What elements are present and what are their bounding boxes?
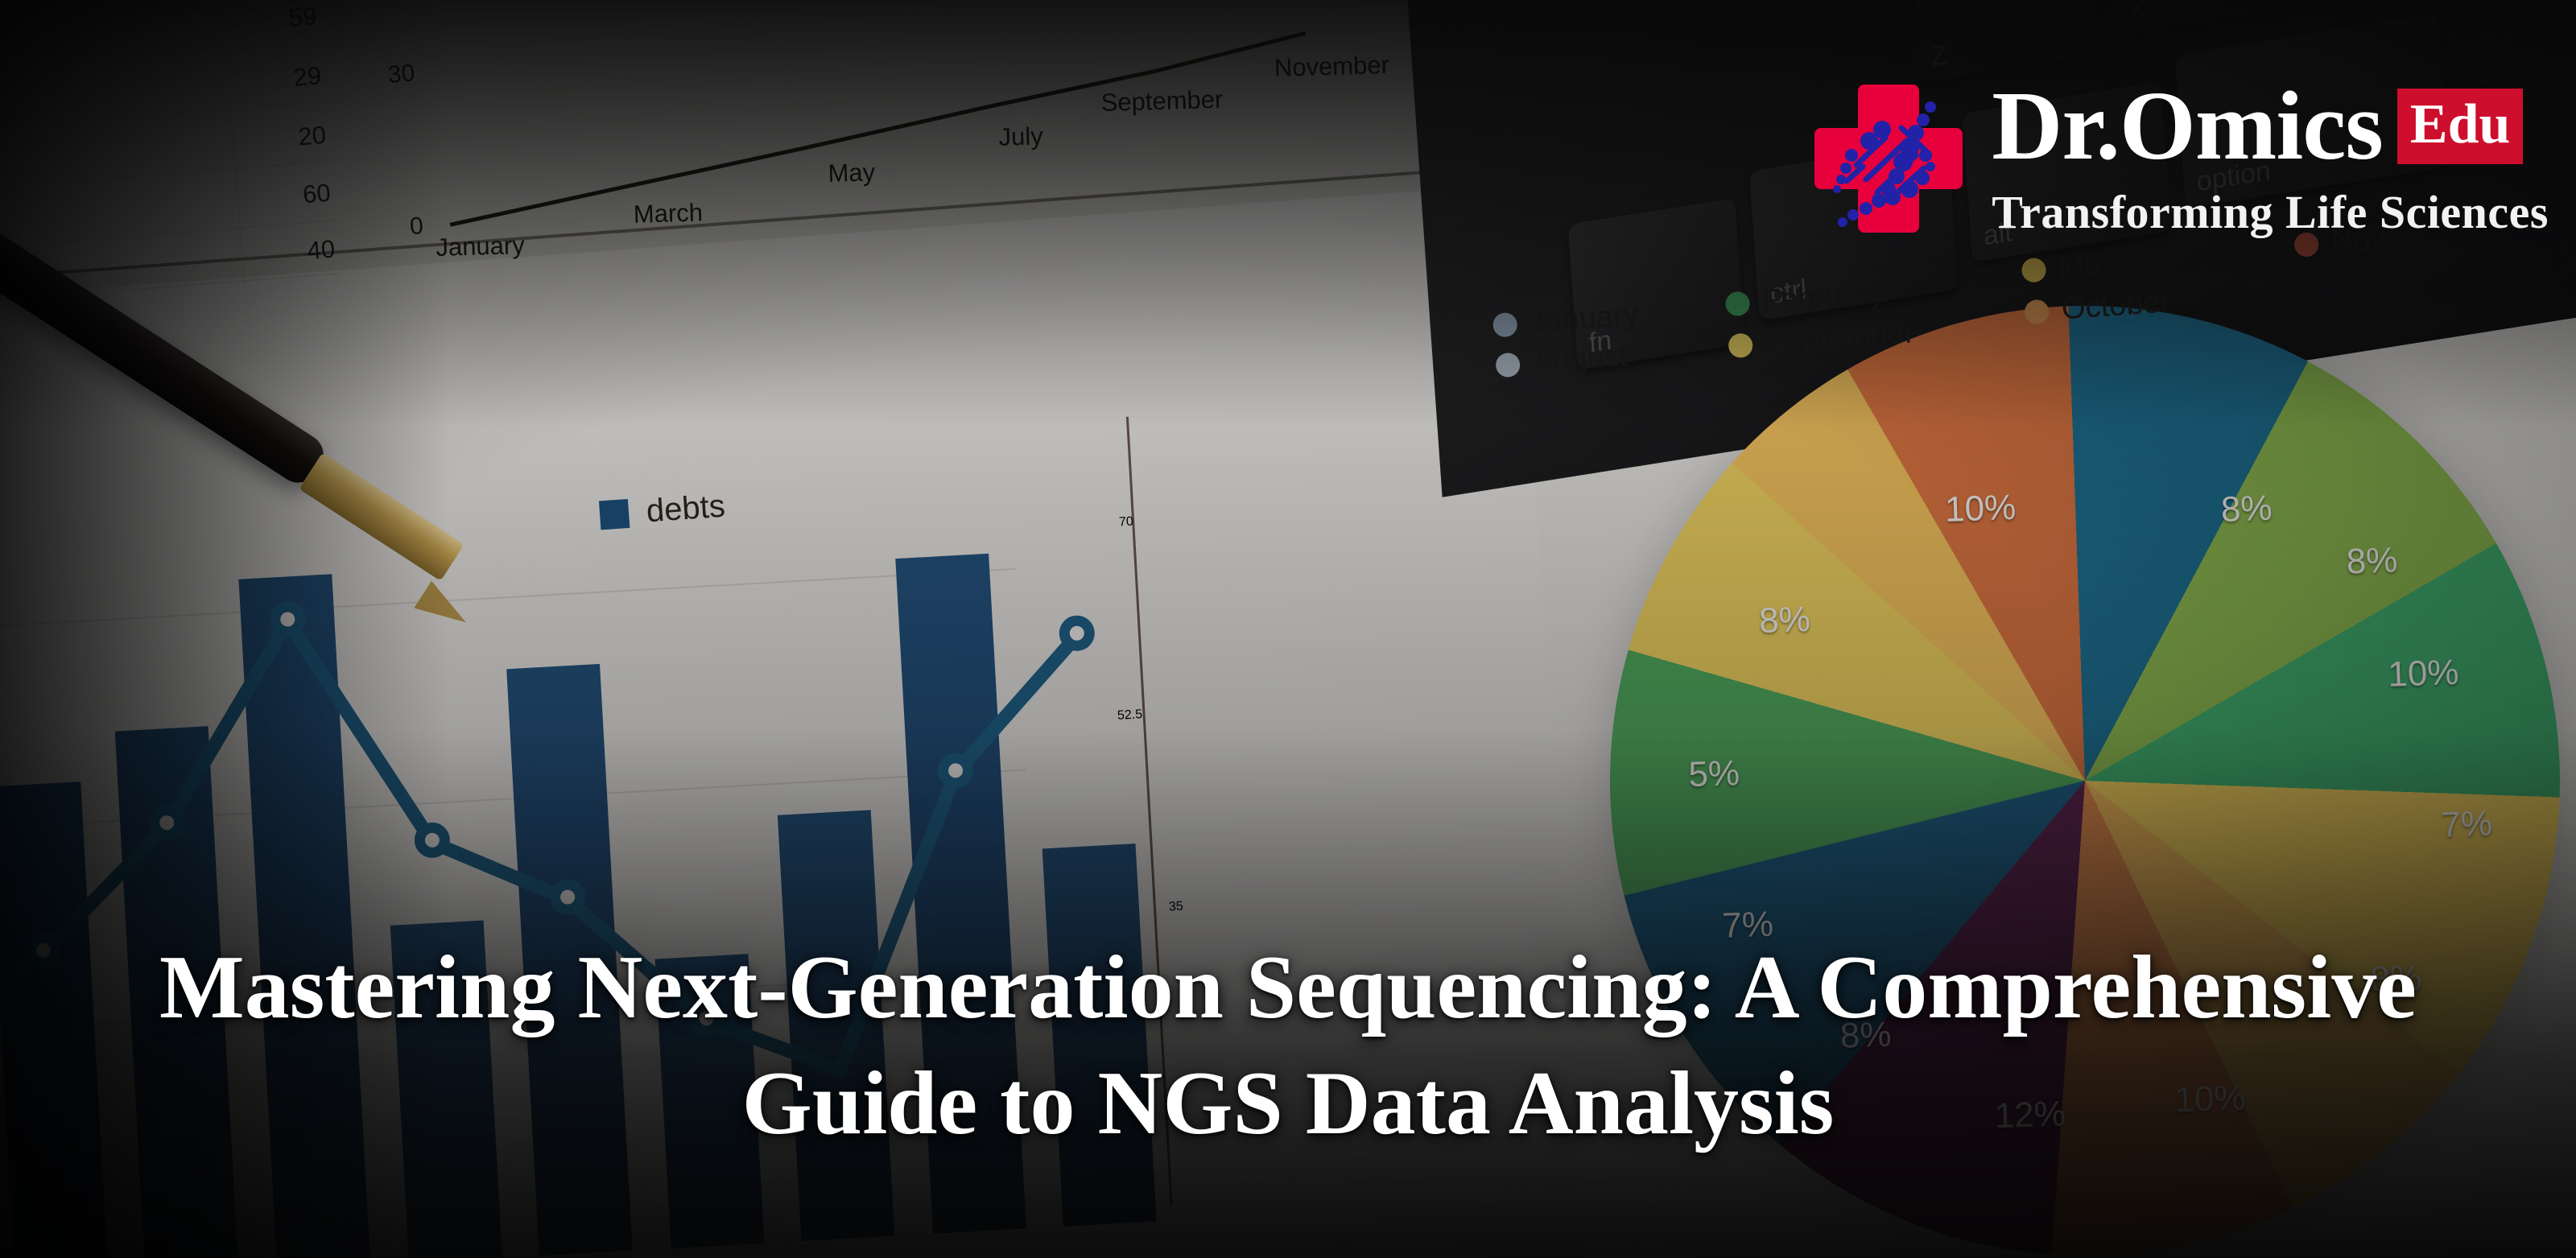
pie-label: 10%	[1944, 488, 2017, 530]
article-hero-banner: fn ctrl alt option Z X C V	[0, 0, 2576, 1258]
pie-label: 8%	[2220, 488, 2273, 530]
legend-item-september: September	[1728, 316, 1916, 363]
legend-item-february: February	[1724, 276, 1886, 322]
table-cell: 60	[302, 179, 332, 210]
key-x: X	[2107, 0, 2300, 36]
legend-dot-august	[1495, 352, 1521, 377]
legend-item-august: August	[1495, 339, 1629, 382]
pie-label: 8%	[2346, 541, 2398, 583]
pie-label: 10%	[2388, 653, 2460, 695]
legend-label-october: October	[2061, 285, 2172, 327]
legend-dot-february	[1725, 291, 1751, 316]
brand-logo[interactable]: Dr.Omics Edu Transforming Life Sciences	[1808, 77, 2549, 239]
x-tick-march: March	[633, 198, 703, 229]
pie-label: 5%	[1688, 753, 1740, 795]
x-tick-november: November	[1274, 51, 1389, 83]
x-tick-july: July	[998, 122, 1043, 152]
x-tick-may: May	[828, 158, 876, 188]
x-tick-january: January	[436, 231, 525, 262]
x-tick-september: September	[1100, 85, 1224, 118]
brand-name: Dr.Omics	[1992, 77, 2383, 175]
table-cell: 59	[287, 2, 317, 33]
pie-label: 8%	[1758, 599, 1810, 641]
legend-dot-january	[1492, 311, 1518, 337]
table-cell: 20	[297, 121, 327, 152]
brand-logo-text: Dr.Omics Edu Transforming Life Sciences	[1992, 77, 2549, 239]
key-x-label: X	[2128, 0, 2148, 26]
key-z-label: Z	[1930, 39, 1948, 73]
brand-tagline: Transforming Life Sciences	[1992, 185, 2549, 239]
pie-label: 7%	[2441, 803, 2493, 845]
brand-badge-edu: Edu	[2397, 89, 2524, 164]
legend-label-debts: debts	[645, 489, 726, 530]
legend-label-may: Ma...	[2058, 246, 2128, 286]
legend-label-january: January	[1529, 298, 1640, 340]
legend-item-october: October	[2024, 285, 2172, 330]
legend-label-august: August	[1532, 339, 1629, 380]
legend-label-september: September	[1765, 316, 1916, 361]
legend-item-january: January	[1492, 298, 1640, 343]
medical-cross-dna-icon	[1808, 78, 1969, 239]
legend-swatch-debts	[599, 498, 630, 529]
legend-dot-september	[1728, 332, 1753, 358]
legend-label-february: February	[1761, 276, 1886, 320]
y-tick-35: 35	[1169, 900, 1184, 915]
table-cell: 40	[306, 234, 336, 266]
legend-dot-may	[2021, 257, 2047, 283]
page-title: Mastering Next-Generation Sequencing: A …	[0, 930, 2576, 1161]
y-tick-52-5: 52.5	[1117, 707, 1143, 724]
legend-item-may: Ma...	[2021, 246, 2128, 288]
table-cell: 29	[292, 61, 322, 93]
legend-dot-october	[2024, 299, 2050, 324]
y-tick-70: 70	[1119, 515, 1134, 530]
